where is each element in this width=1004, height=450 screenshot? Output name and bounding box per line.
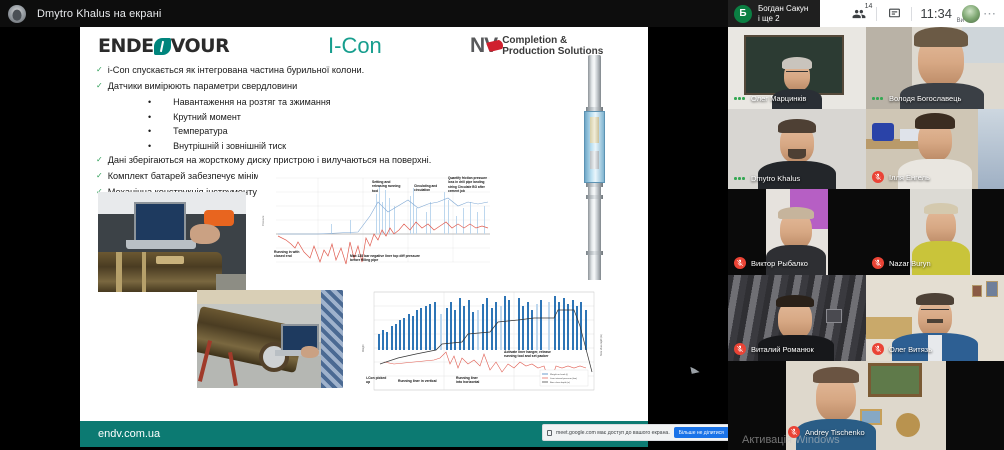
chart-2-annotation: Activate liner hanger, release running t… <box>504 350 560 359</box>
participant-tile[interactable]: Олег Марцинків <box>728 27 866 109</box>
participant-tile[interactable]: Виталий Романюк <box>728 275 866 361</box>
bullet-text: Датчики вимірюють параметри свердловини <box>108 79 298 93</box>
participant-name: Олег Марцинків <box>751 94 806 103</box>
chart-1-ylabel: Pressure <box>261 215 265 226</box>
participant-name: Ілля Енгель <box>889 173 930 182</box>
bullet-subitem: •Крутний момент <box>148 110 556 125</box>
nov-wordmark: NV <box>470 34 497 58</box>
active-speaker-initial: Б <box>734 5 752 23</box>
shared-screen-stage: ENDEVOUR I-Con NV Completion & Productio… <box>0 27 728 450</box>
stop-sharing-button[interactable]: Більше не ділитися <box>674 427 729 438</box>
svg-text:Bore shoe depth (m): Bore shoe depth (m) <box>550 381 570 384</box>
participant-tile[interactable]: Nazar Buryn <box>866 189 1004 275</box>
photo-field-test-laptop <box>98 192 246 292</box>
participant-tile[interactable]: Dmytro Khalus <box>728 109 866 189</box>
active-speaker-name: Богдан Сакун <box>758 4 808 14</box>
bullet-subitem: •Температура <box>148 124 556 139</box>
participant-tile[interactable]: Олег Витязь <box>866 275 1004 361</box>
meet-screen-share-window: Dmytro Khalus на екрані Б Богдан Сакун і… <box>0 0 1004 450</box>
participant-name: Олег Витязь <box>889 345 932 354</box>
mic-muted-icon <box>734 257 746 269</box>
mouse-cursor <box>690 365 699 374</box>
speaking-indicator-icon <box>872 97 884 100</box>
participant-name-row: Andrey Tischenko <box>788 426 865 438</box>
endeavour-logo: ENDEVOUR <box>98 35 229 57</box>
self-avatar[interactable] <box>962 5 980 23</box>
bullet-text: Дані зберігаються на жорсткому диску при… <box>108 153 432 167</box>
photo-icon-tool-on-stand <box>197 290 343 388</box>
chat-icon[interactable] <box>877 0 911 27</box>
leaf-icon <box>154 38 171 55</box>
meet-header-bar: Б Богдан Сакун і ще 2 14 11:34 Ви ⋯ <box>728 0 1004 27</box>
mic-muted-icon <box>788 426 800 438</box>
speaking-indicator-icon <box>734 177 746 180</box>
bullet-text: i-Con спускається як інтегрована частина… <box>108 63 365 77</box>
endeavour-logo-suffix: VOUR <box>171 35 230 57</box>
participant-tile[interactable]: Ілля Енгель <box>866 109 1004 189</box>
participant-name-row: Олег Витязь <box>872 343 932 355</box>
mic-muted-icon <box>734 343 746 355</box>
active-speaker-extra: і ще 2 <box>758 14 808 24</box>
chart-2-annotation: Running liner into horizontal <box>456 376 482 385</box>
people-icon[interactable]: 14 <box>842 0 876 27</box>
participant-name: Nazar Buryn <box>889 259 931 268</box>
icon-tool-illustration <box>574 55 616 287</box>
chart-2-ylabel: Bore shoe depth (m) <box>600 334 603 356</box>
dot-icon: • <box>148 95 151 110</box>
participant-name: Andrey Tischenko <box>805 428 865 437</box>
meeting-time: 11:34 <box>912 6 960 21</box>
participant-tile[interactable]: Виктор Рыбалко <box>728 189 866 275</box>
presenting-label: Dmytro Khalus на екрані <box>37 8 161 20</box>
share-message: meet.google.com має доступ до вашого екр… <box>556 430 670 436</box>
bullet-subitem: •Внутрішній і зовнішній тиск <box>148 139 556 154</box>
bullet-item: ✓Датчики вимірюють параметри свердловини <box>96 79 556 93</box>
chart-pressure-timeline: Pressure Running in with closed end Max … <box>258 172 493 287</box>
dot-icon: • <box>148 110 151 125</box>
bullet-item: ✓Дані зберігаються на жорсткому диску пр… <box>96 153 556 167</box>
participant-name: Виктор Рыбалко <box>751 259 808 268</box>
chart-running-liner: Weight Bore shoe depth (m) Weight on hoo… <box>358 280 608 408</box>
participant-grid: Олег Марцинків Володя Богославець <box>728 27 1004 450</box>
presenting-topbar: Dmytro Khalus на екрані <box>0 0 728 27</box>
svg-text:Weight: Weight <box>362 344 365 352</box>
mic-muted-icon <box>872 343 884 355</box>
participant-name: Виталий Романюк <box>751 345 814 354</box>
check-icon: ✓ <box>96 169 103 183</box>
svg-text:Liner internal pressure (bar): Liner internal pressure (bar) <box>550 377 577 380</box>
screen-share-notification: meet.google.com має доступ до вашого екр… <box>542 424 732 441</box>
active-speaker-pill[interactable]: Б Богдан Сакун і ще 2 <box>728 0 820 27</box>
chart-1-annotation: Circulating and circulation <box>414 184 442 193</box>
footer-url: endv.com.ua <box>98 428 160 440</box>
participant-name-row: Виктор Рыбалко <box>734 257 808 269</box>
speaking-indicator-icon <box>734 97 746 100</box>
presenter-avatar-icon <box>8 5 26 23</box>
bullet-text: Навантаження на розтяг та зжимання <box>173 95 331 110</box>
endeavour-logo-prefix: ENDE <box>98 35 154 57</box>
mic-muted-icon <box>872 257 884 269</box>
presentation-slide: ENDEVOUR I-Con NV Completion & Productio… <box>80 27 648 447</box>
participant-name-row: Виталий Романюк <box>734 343 814 355</box>
participant-name-row: Dmytro Khalus <box>734 174 800 183</box>
bullet-item: ✓i-Con спускається як інтегрована частин… <box>96 63 556 77</box>
participant-name: Володя Богославець <box>889 94 961 103</box>
svg-text:Weight on hook (t): Weight on hook (t) <box>550 373 568 376</box>
chart-1-annotation: Setting and releasing running tool <box>372 180 406 193</box>
participant-name: Dmytro Khalus <box>751 174 800 183</box>
more-options-icon[interactable]: ⋯ <box>983 6 1000 22</box>
check-icon: ✓ <box>96 63 103 77</box>
check-icon: ✓ <box>96 153 103 167</box>
participant-name-row: Nazar Buryn <box>872 257 931 269</box>
bullet-text: Внутрішній і зовнішній тиск <box>173 139 286 154</box>
mic-muted-icon <box>872 171 884 183</box>
nov-tagline-1: Completion & <box>502 35 603 46</box>
chart-2-annotation: Running liner in vertical <box>398 379 460 383</box>
chart-1-annotation: Max 128 bar negative liner top diff pres… <box>350 254 424 263</box>
nov-mark-start: N <box>470 34 484 57</box>
chart-2-annotation: i-Con picked up <box>366 376 390 385</box>
chart-1-annotation: Quantify friction pressure loss in drill… <box>448 176 492 194</box>
people-count-badge: 14 <box>865 3 873 10</box>
bullet-text: Крутний момент <box>173 110 241 125</box>
bullet-subitem: •Навантаження на розтяг та зжимання <box>148 95 556 110</box>
participant-name-row: Олег Марцинків <box>734 94 806 103</box>
check-icon: ✓ <box>96 79 103 93</box>
chart-1-annotation: Running in with closed end <box>274 250 304 259</box>
icon-product-title: I-Con <box>328 33 382 59</box>
participant-tile[interactable]: Володя Богославець <box>866 27 1004 109</box>
dot-icon: • <box>148 139 151 154</box>
participant-name-row: Володя Богославець <box>872 94 961 103</box>
lock-icon <box>547 430 552 436</box>
bullet-text: Температура <box>173 124 228 139</box>
chart-2-svg: Weight Bore shoe depth (m) Weight on hoo… <box>358 280 608 408</box>
participant-name-row: Ілля Енгель <box>872 171 930 183</box>
dot-icon: • <box>148 124 151 139</box>
